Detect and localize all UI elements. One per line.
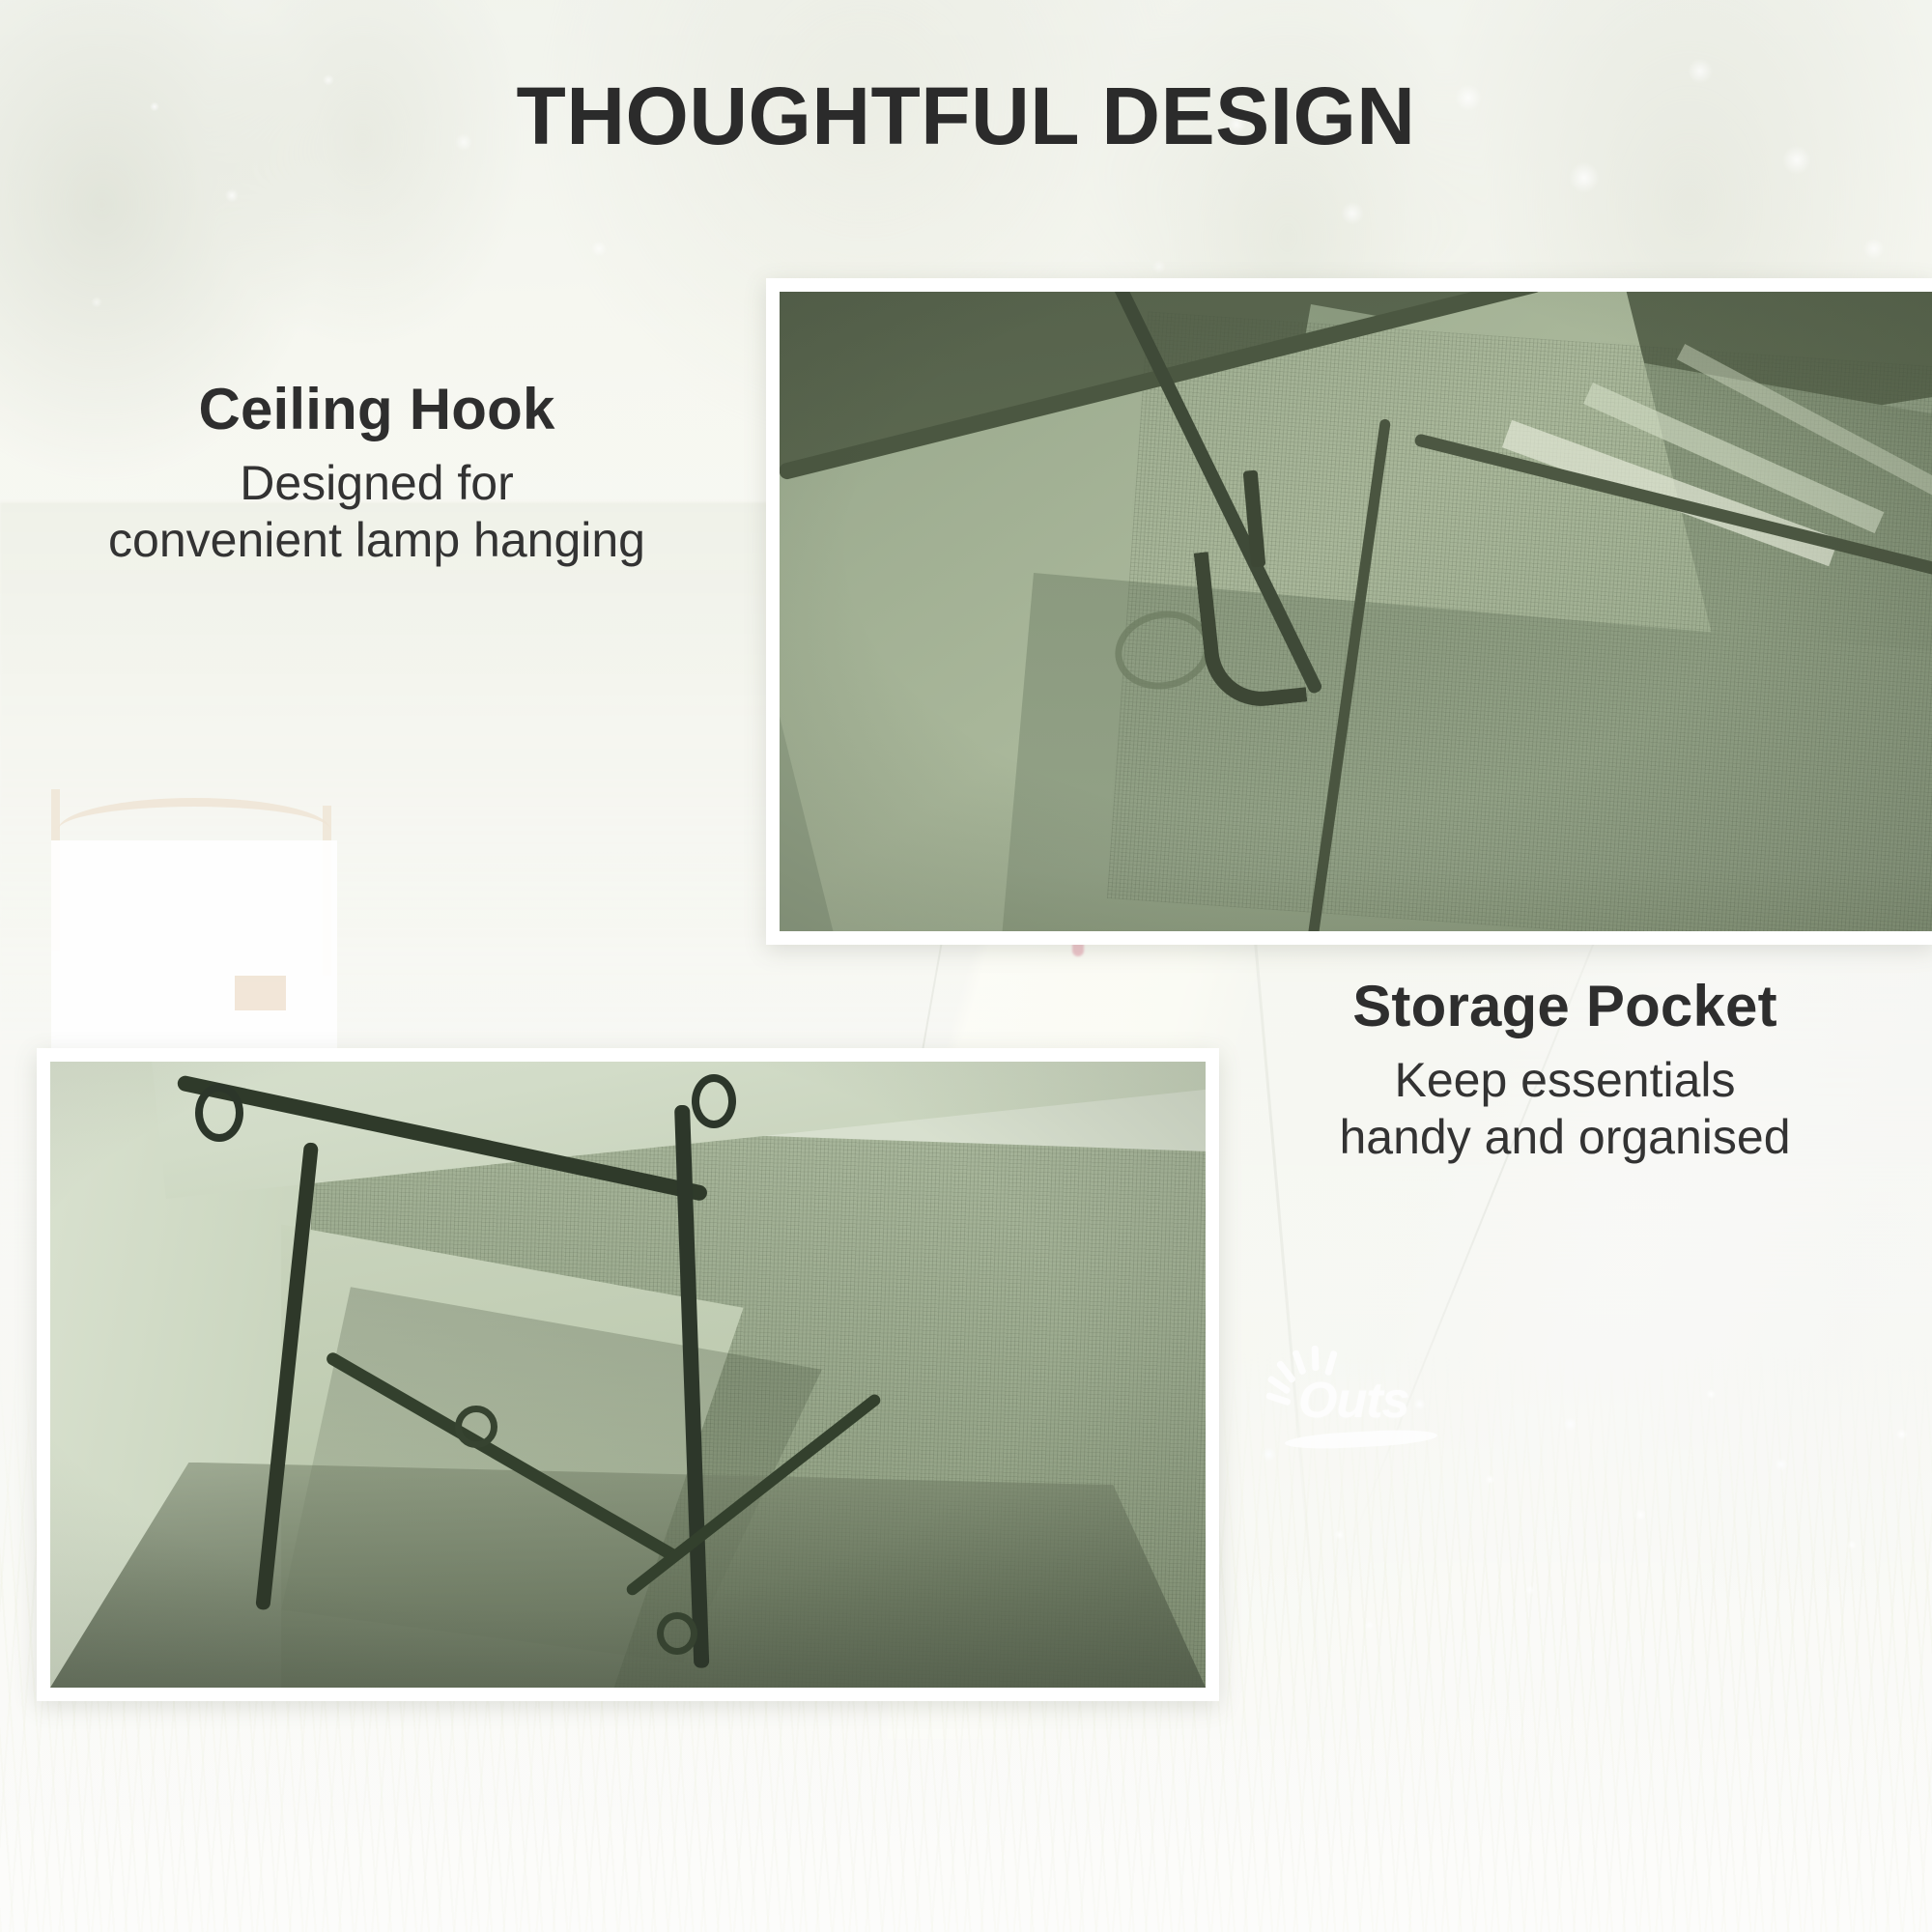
feature-description-storage-pocket: Keep essentials handy and organised xyxy=(1236,1052,1893,1166)
feature-description-line-2: convenient lamp hanging xyxy=(108,513,645,567)
tent-interior-pocket-illustration xyxy=(50,1062,1206,1688)
feature-description-line-2: handy and organised xyxy=(1339,1110,1790,1164)
photo-vignette xyxy=(780,292,1932,931)
storage-pocket-photo xyxy=(50,1062,1206,1688)
feature-block-storage-pocket: Storage Pocket Keep essentials handy and… xyxy=(1236,976,1893,1166)
feature-description-ceiling-hook: Designed for convenient lamp hanging xyxy=(58,455,696,569)
feature-description-line-1: Designed for xyxy=(240,456,514,510)
tent-interior-hook-illustration xyxy=(780,292,1932,931)
ceiling-hook-photo xyxy=(780,292,1932,931)
page-title: THOUGHTFUL DESIGN xyxy=(0,75,1932,156)
photo-card-ceiling-hook xyxy=(766,278,1932,945)
photo-vignette xyxy=(50,1062,1206,1688)
feature-description-line-1: Keep essentials xyxy=(1394,1053,1735,1107)
feature-heading-ceiling-hook: Ceiling Hook xyxy=(58,379,696,441)
feature-heading-storage-pocket: Storage Pocket xyxy=(1236,976,1893,1038)
photo-card-storage-pocket xyxy=(37,1048,1219,1701)
feature-block-ceiling-hook: Ceiling Hook Designed for convenient lam… xyxy=(58,379,696,569)
infographic-canvas: THOUGHTFUL DESIGN Ceiling Hook Designed … xyxy=(0,0,1932,1932)
